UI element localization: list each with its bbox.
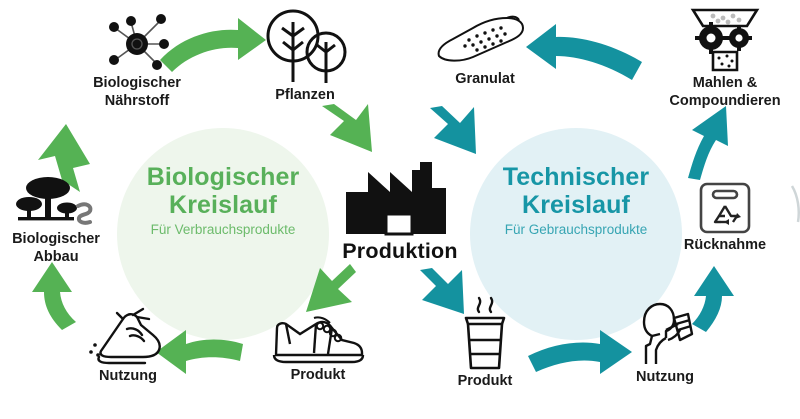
edge-arc-decoration — [792, 186, 799, 222]
node-mahlen-compoundieren[interactable]: Mahlen & Compoundieren — [650, 6, 800, 110]
produktion-label: Produktion — [325, 239, 475, 264]
running-shoe-icon — [87, 305, 169, 367]
coffee-cup-icon — [455, 296, 515, 372]
node-granulat[interactable]: Granulat — [420, 12, 550, 88]
trees-icon — [260, 10, 350, 86]
pflanzen-label: Pflanzen — [245, 88, 365, 104]
produkt-becher-label: Produkt — [420, 374, 550, 390]
arrow-produktion-to-produkt — [306, 264, 356, 312]
produkt-schuh-label: Produkt — [248, 368, 388, 384]
biologischer-abbau-label-2: Abbau — [0, 250, 114, 266]
nutzung-schuh-label: Nutzung — [68, 369, 188, 385]
mushrooms-worm-icon — [16, 172, 96, 230]
biologischer-naehrstoff-label-2: Nährstoff — [72, 94, 202, 110]
biological-cycle-label: Biologischer Kreislauf Für Verbrauchspro… — [122, 163, 324, 237]
node-produktion[interactable]: Produktion — [325, 160, 475, 264]
technical-cycle-title: Technischer — [475, 163, 677, 191]
technical-cycle-subtitle: Für Gebrauchsprodukte — [475, 222, 677, 237]
recycling-bin-icon — [697, 180, 753, 236]
arrow-pflanzen-to-produktion — [322, 104, 372, 152]
technical-cycle-title2: Kreislauf — [475, 191, 677, 219]
molecule-icon — [101, 14, 173, 74]
node-ruecknahme[interactable]: Rücknahme — [660, 180, 790, 254]
mahlen-label-2: Compoundieren — [650, 94, 800, 110]
arrow-granulat-to-produktion — [430, 106, 476, 154]
factory-icon — [342, 160, 458, 236]
granulat-label: Granulat — [420, 72, 550, 88]
node-biologischer-abbau[interactable]: Biologischer Abbau — [0, 172, 114, 266]
circular-economy-diagram: .g{fill:#55b254;} .t{fill:#14929f;} — [0, 0, 800, 419]
node-nutzung-schuh[interactable]: Nutzung — [68, 305, 188, 385]
technical-cycle-label: Technischer Kreislauf Für Gebrauchsprodu… — [475, 163, 677, 237]
nutzung-becher-label: Nutzung — [605, 370, 725, 386]
arrow-ruecknahme-to-mahlen — [688, 106, 728, 180]
node-produkt-becher[interactable]: Produkt — [420, 296, 550, 390]
mahlen-label-1: Mahlen & — [650, 76, 800, 92]
biologischer-abbau-label-1: Biologischer — [0, 232, 114, 248]
biological-cycle-title: Biologischer — [122, 163, 324, 191]
node-pflanzen[interactable]: Pflanzen — [245, 10, 365, 104]
biological-cycle-subtitle: Für Verbrauchsprodukte — [122, 222, 324, 237]
hand-pellets-icon — [433, 12, 537, 70]
node-biologischer-naehrstoff[interactable]: Biologischer Nährstoff — [72, 14, 202, 110]
node-produkt-schuh[interactable]: Produkt — [248, 310, 388, 384]
biological-cycle-title2: Kreislauf — [122, 191, 324, 219]
gears-hopper-icon — [689, 6, 761, 74]
ruecknahme-label: Rücknahme — [660, 238, 790, 254]
person-drinking-icon — [630, 300, 700, 368]
sneaker-icon — [270, 310, 366, 366]
biologischer-naehrstoff-label-1: Biologischer — [72, 76, 202, 92]
node-nutzung-becher[interactable]: Nutzung — [605, 300, 725, 386]
